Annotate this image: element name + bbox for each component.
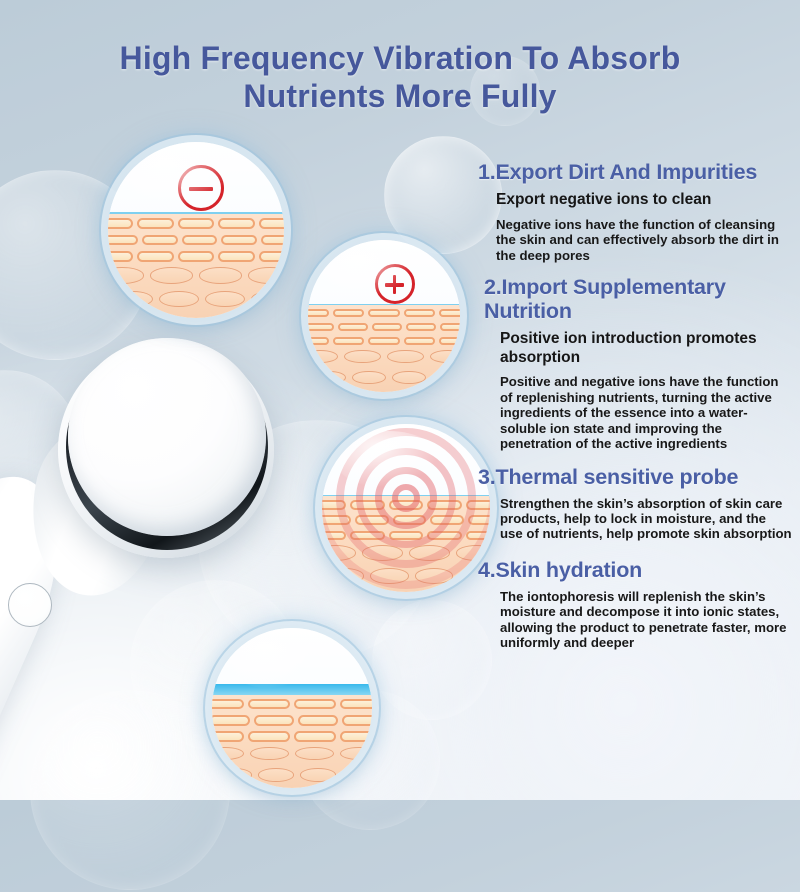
brick	[261, 235, 284, 246]
cell-row	[308, 348, 460, 366]
negative-ion-skin-diagram	[108, 142, 284, 318]
cell	[387, 350, 424, 364]
brick	[248, 731, 290, 741]
cell	[205, 291, 245, 307]
brick-row	[108, 216, 284, 231]
brick	[294, 699, 336, 709]
brick	[368, 309, 399, 317]
brick	[259, 251, 284, 262]
brick	[372, 323, 402, 331]
device-probe-head	[68, 338, 266, 536]
epidermis-bricks	[108, 216, 284, 265]
cell	[212, 747, 244, 760]
brick	[212, 715, 250, 725]
cell	[312, 371, 346, 385]
cell-row	[108, 265, 284, 285]
brick	[338, 323, 368, 331]
feature-heading-1: 1.Export Dirt And Impurities	[478, 160, 792, 184]
cell	[432, 371, 460, 385]
brick-row	[108, 249, 284, 264]
feature-body-1: Negative ions have the function of clean…	[496, 217, 792, 263]
diagram-inner	[108, 142, 284, 318]
brick-row	[108, 233, 284, 248]
feature-body-4: The iontophoresis will replenish the ski…	[500, 589, 792, 651]
brick	[212, 731, 244, 741]
brick	[340, 699, 372, 709]
brick	[404, 309, 435, 317]
brick	[254, 715, 294, 725]
cell-row	[213, 766, 372, 783]
feature-heading-2: 2.Import Supplementary Nutrition	[484, 275, 792, 323]
cell	[150, 267, 193, 283]
cell	[340, 747, 372, 760]
page-title-line-1: High Frequency Vibration To Absorb	[120, 40, 681, 76]
cell	[216, 768, 252, 781]
thermal-wave-skin-diagram	[322, 424, 490, 592]
cell	[300, 768, 336, 781]
brick	[142, 235, 177, 246]
page-title-line-2: Nutrients More Fully	[0, 78, 800, 116]
subcutaneous-cells	[108, 265, 284, 318]
cell	[108, 267, 144, 283]
brick	[308, 323, 334, 331]
brick	[439, 337, 460, 345]
cell	[392, 371, 426, 385]
brick	[404, 337, 435, 345]
feature-subheading-2: Positive ion introduction promotes absor…	[500, 330, 792, 367]
subcutaneous-cells	[308, 348, 460, 392]
positive-ion-skin-diagram	[308, 240, 460, 392]
brick	[333, 309, 364, 317]
cell-row	[109, 289, 284, 309]
hydration-skin-diagram	[212, 628, 372, 788]
cell	[295, 747, 334, 760]
brick-row	[212, 697, 372, 711]
glass-glare	[225, 634, 324, 688]
glass-glare	[335, 431, 439, 488]
cell	[342, 768, 372, 781]
cell	[199, 267, 242, 283]
cell-row	[309, 369, 460, 387]
brick	[368, 337, 399, 345]
brick	[108, 251, 133, 262]
diagram-inner	[212, 628, 372, 788]
brick-row	[308, 321, 460, 333]
brick	[333, 337, 364, 345]
brick	[340, 731, 372, 741]
cell	[344, 350, 381, 364]
glass-glare	[122, 149, 231, 209]
feature-list: 1.Export Dirt And Impurities Export nega…	[478, 160, 792, 656]
brick	[182, 235, 217, 246]
brick	[342, 715, 372, 725]
cell	[248, 267, 284, 283]
subcutaneous-cells	[212, 745, 372, 788]
cell	[258, 768, 294, 781]
page-title: High Frequency Vibration To Absorb Nutri…	[0, 40, 800, 116]
brick	[298, 715, 338, 725]
cell	[251, 291, 284, 307]
cell	[112, 291, 152, 307]
brick	[137, 218, 174, 229]
feature-block-4: 4.Skin hydration The iontophoresis will …	[478, 558, 792, 651]
cell	[250, 747, 289, 760]
brick	[221, 235, 256, 246]
brick	[294, 731, 336, 741]
brick	[108, 218, 133, 229]
feature-block-1: 1.Export Dirt And Impurities Export nega…	[478, 160, 792, 263]
diagram-inner	[322, 424, 490, 592]
brick	[178, 251, 215, 262]
brick	[218, 218, 255, 229]
bubble	[372, 600, 492, 720]
feature-block-3: 3.Thermal sensitive probe Strengthen the…	[478, 465, 792, 542]
feature-block-2: 2.Import Supplementary Nutrition Positiv…	[478, 275, 792, 452]
brick	[439, 309, 460, 317]
cell	[430, 350, 460, 364]
brick	[178, 218, 215, 229]
feature-body-3: Strengthen the skin’s absorption of skin…	[500, 496, 792, 542]
feature-heading-4: 4.Skin hydration	[478, 558, 792, 582]
cell	[159, 291, 199, 307]
brick-row	[212, 713, 372, 727]
feature-heading-3: 3.Thermal sensitive probe	[478, 465, 792, 489]
brick	[259, 218, 284, 229]
brick	[308, 309, 329, 317]
brick-row	[308, 335, 460, 347]
feature-body-2: Positive and negative ions have the func…	[500, 374, 792, 451]
epidermis-bricks	[308, 307, 460, 348]
brick	[308, 337, 329, 345]
brick-row	[212, 729, 372, 743]
cell-row	[212, 745, 372, 762]
brick	[218, 251, 255, 262]
brick-row	[308, 307, 460, 319]
epidermis-bricks	[212, 697, 372, 745]
brick	[406, 323, 436, 331]
brick	[248, 699, 290, 709]
brick	[212, 699, 244, 709]
brick	[108, 235, 138, 246]
cell	[308, 350, 338, 364]
brick	[440, 323, 460, 331]
cell	[352, 371, 386, 385]
feature-subheading-1: Export negative ions to clean	[496, 191, 792, 210]
diagram-inner	[308, 240, 460, 392]
brick	[137, 251, 174, 262]
device-power-button[interactable]	[8, 583, 52, 627]
glass-glare	[320, 246, 414, 298]
